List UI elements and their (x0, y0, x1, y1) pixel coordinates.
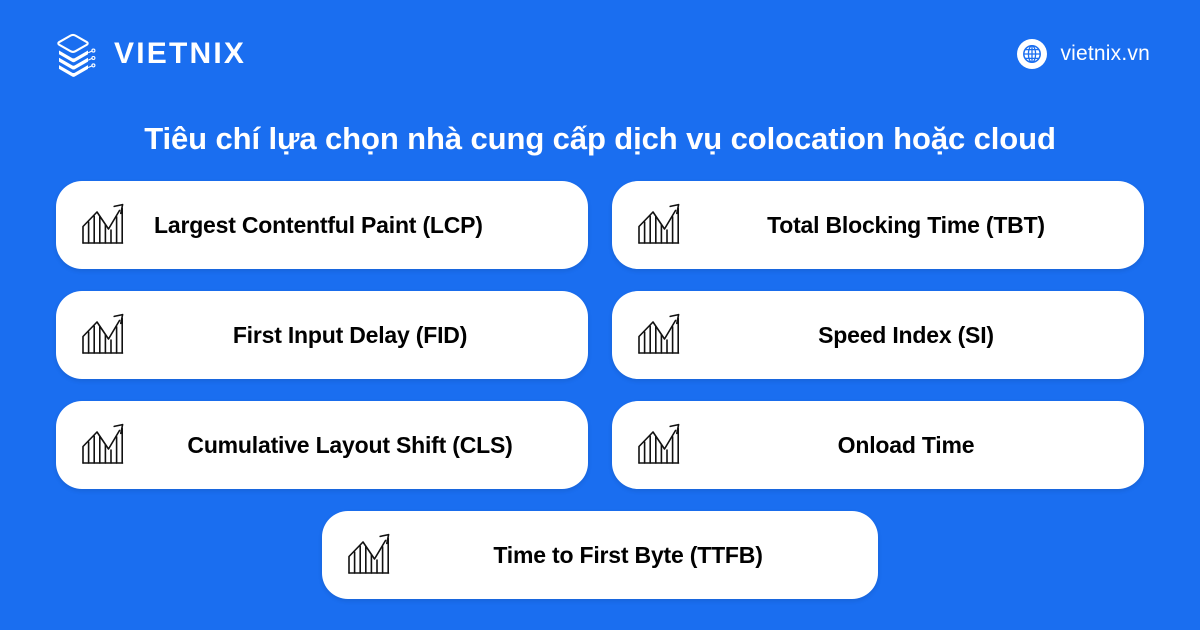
criteria-card[interactable]: Cumulative Layout Shift (CLS) (56, 401, 588, 489)
site-url-text: vietnix.vn (1060, 42, 1150, 66)
criteria-card[interactable]: Time to First Byte (TTFB) (322, 511, 878, 599)
criteria-card[interactable]: Onload Time (612, 401, 1144, 489)
growth-chart-icon (78, 309, 130, 361)
growth-chart-icon (78, 419, 130, 471)
criteria-card[interactable]: First Input Delay (FID) (56, 291, 588, 379)
criteria-card-row-last: Time to First Byte (TTFB) (56, 511, 1144, 599)
criteria-card[interactable]: Largest Contentful Paint (LCP) (56, 181, 588, 269)
criteria-card[interactable]: Total Blocking Time (TBT) (612, 181, 1144, 269)
stacked-layers-logo-icon (48, 28, 100, 80)
page-header: VIETNIX vietnix.vn (0, 0, 1200, 108)
criteria-card-grid: Largest Contentful Paint (LCP) (56, 181, 1144, 599)
criteria-label: First Input Delay (FID) (130, 321, 570, 349)
growth-chart-icon (634, 199, 686, 251)
criteria-card[interactable]: Speed Index (SI) (612, 291, 1144, 379)
infographic-page: VIETNIX vietnix.vn Tiêu chí lựa chọn nhà… (0, 0, 1200, 630)
criteria-label: Speed Index (SI) (686, 321, 1126, 349)
site-url-badge[interactable]: vietnix.vn (1017, 39, 1150, 69)
growth-chart-icon (634, 309, 686, 361)
page-title: Tiêu chí lựa chọn nhà cung cấp dịch vụ c… (0, 118, 1200, 160)
growth-chart-icon (78, 199, 130, 251)
globe-icon (1017, 39, 1047, 69)
criteria-label: Cumulative Layout Shift (CLS) (130, 431, 570, 459)
growth-chart-icon (344, 529, 396, 581)
criteria-label: Time to First Byte (TTFB) (396, 541, 860, 569)
growth-chart-icon (634, 419, 686, 471)
criteria-label: Onload Time (686, 431, 1126, 459)
criteria-label: Largest Contentful Paint (LCP) (130, 211, 570, 239)
brand-name: VIETNIX (114, 39, 246, 69)
brand-logo[interactable]: VIETNIX (48, 28, 246, 80)
criteria-label: Total Blocking Time (TBT) (686, 211, 1126, 239)
